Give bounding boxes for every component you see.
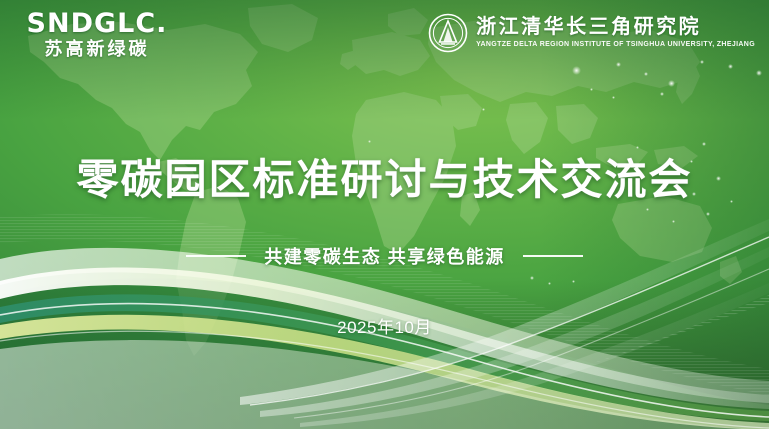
rule-right	[523, 255, 583, 257]
rule-left	[186, 255, 246, 257]
world-map-silhouette	[0, 0, 769, 429]
sndglc-logo-latin: SNDGLC.	[22, 10, 172, 37]
right-shade-overlay	[539, 0, 769, 429]
event-date: 2025年10月	[0, 313, 769, 338]
subtitle-text: 共建零碳生态 共享绿色能源	[264, 243, 505, 269]
conference-poster: SNDGLC. 苏高新绿碳 浙江清华长三角研究院 YANGTZE DELTA R…	[0, 0, 769, 429]
sndglc-logo-chinese: 苏高新绿碳	[22, 40, 172, 58]
institute-name-english: YANGTZE DELTA REGION INSTITUTE OF TSINGH…	[476, 41, 755, 49]
institute-seal-icon	[428, 13, 468, 53]
bokeh-sparkle-particles	[0, 0, 769, 429]
yangtze-delta-institute-logo: 浙江清华长三角研究院 YANGTZE DELTA REGION INSTITUT…	[428, 13, 755, 53]
subtitle-row: 共建零碳生态 共享绿色能源	[0, 243, 769, 269]
bottom-shade-overlay	[0, 279, 769, 429]
institute-name-chinese: 浙江清华长三角研究院	[476, 17, 701, 38]
page-title: 零碳园区标准研讨与技术交流会	[0, 146, 769, 207]
sndglc-logo: SNDGLC. 苏高新绿碳	[22, 10, 172, 58]
